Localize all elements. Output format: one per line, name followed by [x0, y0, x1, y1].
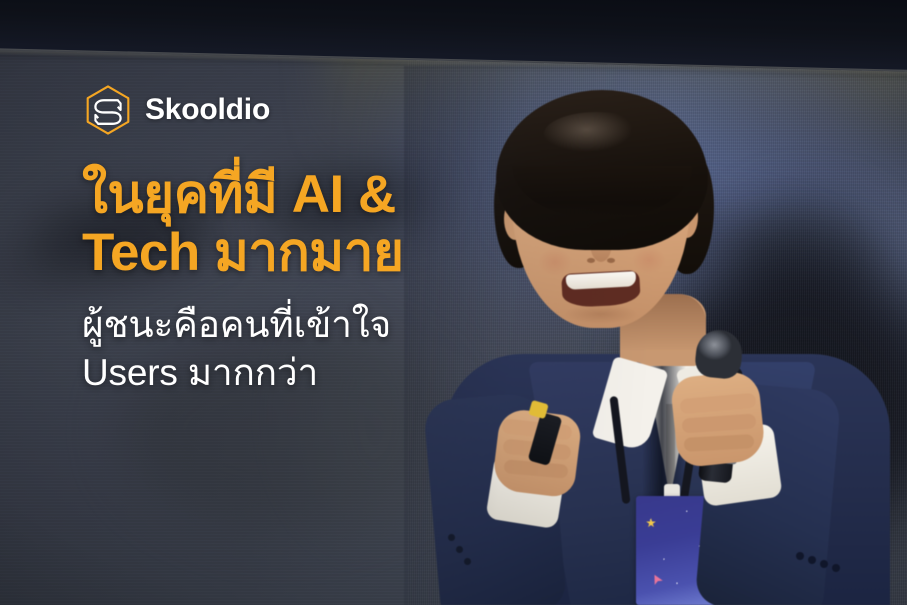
- headline-line-2: Tech มากมาย: [82, 224, 552, 282]
- sleeve-button-icon: [832, 564, 840, 572]
- sleeve-button-icon: [456, 546, 463, 553]
- subheadline-line-1: ผู้ชนะคือคนที่เข้าใจ: [82, 301, 552, 349]
- sleeve-button-icon: [808, 556, 816, 564]
- skooldio-logo-icon: [82, 84, 134, 136]
- sleeve-button-icon: [820, 560, 828, 568]
- subheadline-line-2: Users มากกว่า: [82, 349, 552, 397]
- cheek-right: [632, 246, 666, 274]
- sleeve-button-icon: [464, 558, 471, 565]
- nostril-left: [587, 258, 595, 263]
- headline-line-1: ในยุคที่มี AI &: [82, 166, 552, 224]
- hair-highlight: [544, 112, 650, 156]
- nostril-right: [607, 258, 615, 263]
- headline: ในยุคที่มี AI & Tech มากมาย: [82, 166, 552, 283]
- chin-shadow: [564, 304, 638, 324]
- brand-lockup: Skooldio: [82, 84, 552, 136]
- subheadline: ผู้ชนะคือคนที่เข้าใจ Users มากกว่า: [82, 301, 552, 397]
- sleeve-button-icon: [448, 534, 455, 541]
- brand-wordmark: Skooldio: [145, 95, 270, 125]
- banner-content: Skooldio ในยุคที่มี AI & Tech มากมาย ผู้…: [82, 84, 552, 397]
- promotional-banner: Skooldio ในยุคที่มี AI & Tech มากมาย ผู้…: [0, 0, 907, 605]
- sleeve-button-icon: [796, 552, 804, 560]
